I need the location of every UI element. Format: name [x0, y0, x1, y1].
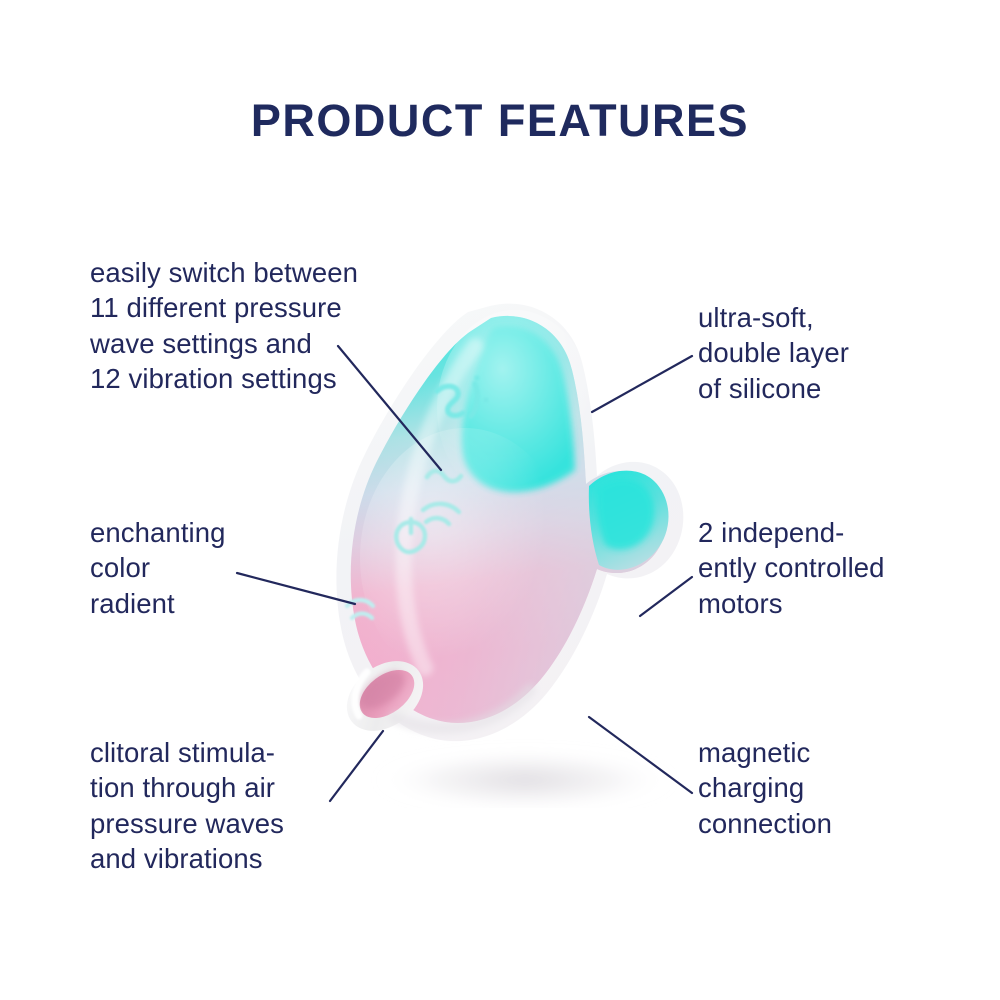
feature-label-clitoral-stimulation: clitoral stimula- tion through air press…: [90, 735, 370, 877]
infographic-canvas: PRODUCT FEATURES: [0, 0, 1000, 1000]
body-highlight: [360, 428, 570, 688]
page-title: PRODUCT FEATURES: [0, 95, 1000, 147]
product-shadow: [375, 750, 675, 808]
feature-label-silicone: ultra-soft, double layer of silicone: [698, 300, 958, 406]
feature-label-color-gradient: enchanting color radient: [90, 515, 350, 621]
feature-label-pressure-settings: easily switch between 11 different press…: [90, 255, 430, 397]
feature-label-magnetic-charging: magnetic charging connection: [698, 735, 958, 841]
feature-label-motors: 2 independ- ently controlled motors: [698, 515, 960, 621]
